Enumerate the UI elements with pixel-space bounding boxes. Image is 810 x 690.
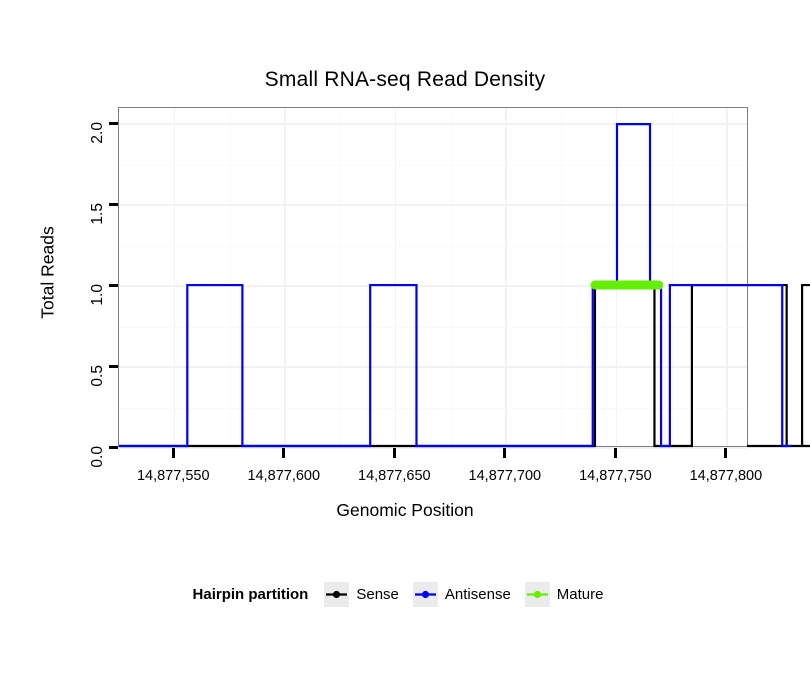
series-line-antisense [119, 124, 791, 446]
chart-title: Small RNA-seq Read Density [0, 68, 810, 92]
legend-key-icon [324, 582, 349, 607]
y-axis-tick [109, 365, 118, 368]
x-axis-tick [724, 448, 727, 458]
y-axis-tick-label: 1.5 [89, 203, 107, 267]
y-axis-tick-label-wrap: 2.0 [0, 113, 106, 133]
x-axis-tick-label: 14,877,700 [450, 468, 560, 484]
x-axis-tick-label: 14,877,800 [671, 468, 781, 484]
legend-item-label: Mature [557, 586, 604, 603]
y-axis-tick [109, 284, 118, 287]
legend-title: Hairpin partition [193, 586, 309, 603]
legend-item-label: Antisense [445, 586, 511, 603]
legend-key-icon [413, 582, 438, 607]
y-axis-tick-label: 2.0 [89, 122, 107, 186]
x-axis-title: Genomic Position [0, 500, 810, 521]
chart-figure: Small RNA-seq Read Density 0.00.51.01.52… [0, 0, 810, 690]
plot-panel [118, 107, 748, 447]
series-line-sense [119, 285, 810, 446]
y-axis-tick [109, 446, 118, 449]
x-axis-tick [503, 448, 506, 458]
x-axis-tick-label: 14,877,650 [339, 468, 449, 484]
x-axis-tick-label: 14,877,600 [229, 468, 339, 484]
x-axis-tick [614, 448, 617, 458]
x-axis-tick [282, 448, 285, 458]
legend: Hairpin partition SenseAntisenseMature [0, 582, 810, 607]
grid-line-horizontal [119, 447, 747, 449]
legend-item-antisense[interactable]: Antisense [413, 582, 511, 607]
y-axis-tick-label: 0.5 [89, 365, 107, 429]
legend-item-label: Sense [356, 586, 399, 603]
y-axis-tick [109, 203, 118, 206]
legend-items: SenseAntisenseMature [324, 582, 617, 607]
data-series-layer [119, 108, 747, 446]
x-axis-tick [172, 448, 175, 458]
legend-item-mature[interactable]: Mature [525, 582, 604, 607]
y-axis-tick-label-wrap: 0.0 [0, 437, 106, 457]
y-axis-title: Total Reads [38, 173, 59, 373]
y-axis-tick [109, 122, 118, 125]
x-axis-tick-label: 14,877,550 [118, 468, 228, 484]
x-axis-tick-label: 14,877,750 [560, 468, 670, 484]
y-axis-tick-label: 1.0 [89, 284, 107, 348]
x-axis-tick [393, 448, 396, 458]
legend-key-icon [525, 582, 550, 607]
legend-item-sense[interactable]: Sense [324, 582, 399, 607]
